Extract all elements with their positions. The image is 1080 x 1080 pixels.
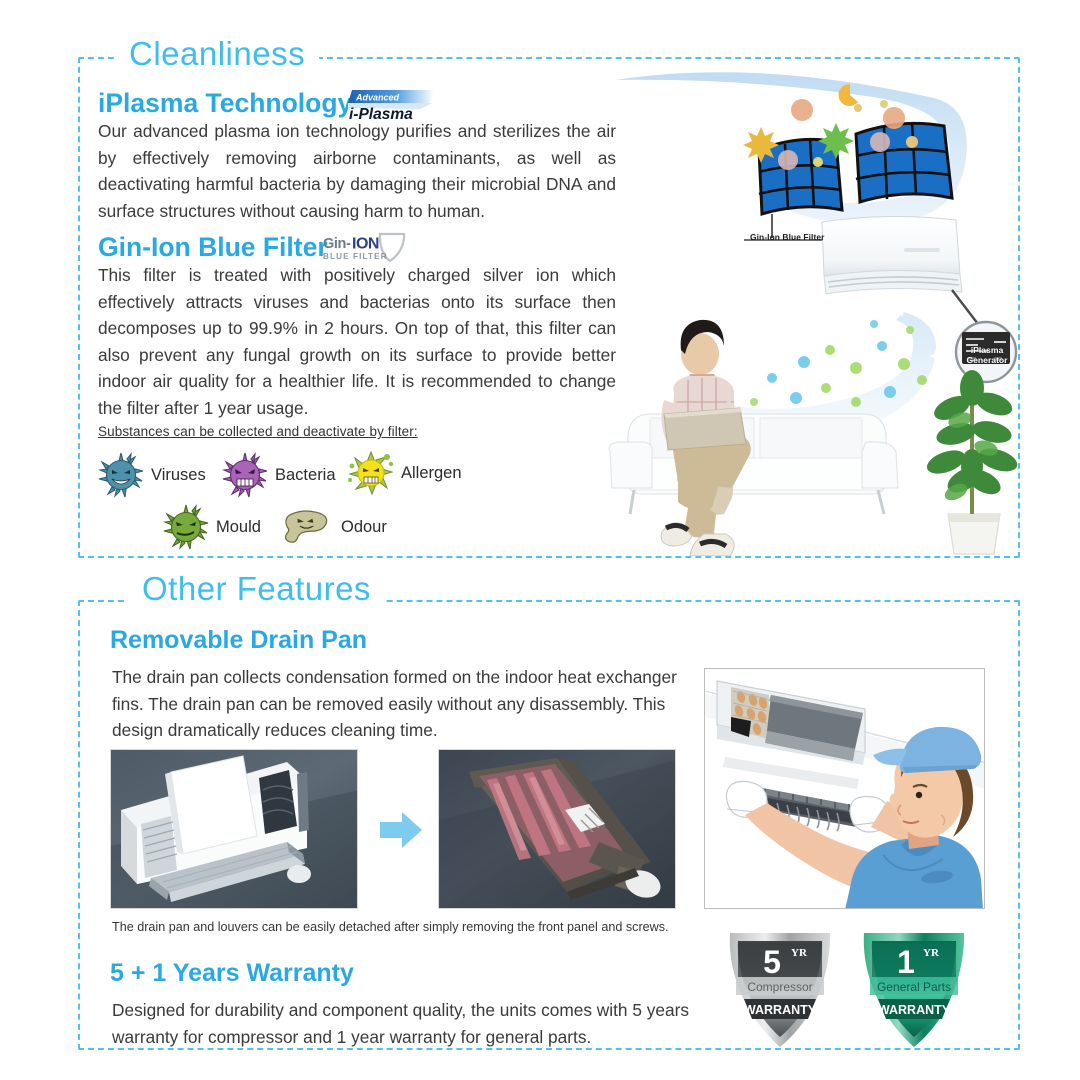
iplasma-technology-body: Our advanced plasma ion technology purif…: [98, 118, 616, 224]
substance-item-bacteria: Bacteria: [222, 452, 336, 498]
iplasma-logo-top-text: Advanced: [355, 93, 400, 103]
svg-text:Compressor: Compressor: [747, 980, 812, 994]
odour-blob-icon: [276, 506, 334, 548]
substances-label: Substances can be collected and deactiva…: [98, 424, 418, 439]
substance-label-allergen: Allergen: [401, 464, 462, 483]
warranty-badge-general-parts: 1 YR General Parts WARRANTY: [864, 933, 964, 1047]
warranty-body: Designed for durability and component qu…: [112, 997, 694, 1050]
substance-label-mould: Mould: [216, 518, 261, 537]
warranty-badges: 5 YR Compressor WARRANTY 1 YR General Pa…: [714, 925, 984, 1055]
svg-text:1: 1: [897, 944, 915, 980]
airflow-diagram: [604, 62, 1020, 556]
svg-text:YR: YR: [791, 947, 808, 959]
infographic-page: Cleanliness iPlasma Technology Advanced …: [0, 0, 1080, 1080]
filter-callout-label: Gin-Ion Blue Filter: [750, 232, 824, 242]
generator-label-line2: Generator: [956, 355, 1018, 365]
svg-text:ION: ION: [352, 236, 379, 253]
process-arrow-icon: [380, 810, 422, 850]
gin-ion-blue-filter-heading: Gin-Ion Blue Filter: [98, 234, 328, 261]
warranty-heading: 5 + 1 Years Warranty: [110, 961, 354, 986]
substance-label-odour: Odour: [341, 518, 387, 537]
substance-label-bacteria: Bacteria: [275, 466, 336, 485]
substance-item-odour: Odour: [276, 506, 387, 548]
iplasma-logo: Advanced i-Plasma: [346, 88, 438, 122]
substance-item-mould: Mould: [163, 504, 261, 550]
removable-drain-pan-body: The drain pan collects condensation form…: [112, 664, 692, 744]
cleanliness-illustration: Gin-Ion Blue Filter iPlasma Generator: [604, 62, 1020, 556]
cleanliness-section-title: Cleanliness: [115, 37, 319, 70]
bacteria-germ-icon: [222, 452, 268, 498]
svg-text:5: 5: [763, 944, 781, 980]
drain-pan-photo-before: [110, 749, 358, 909]
allergen-pollen-icon: [348, 450, 394, 496]
substance-item-viruses: Viruses: [98, 452, 206, 498]
svg-text:YR: YR: [923, 947, 940, 959]
substance-label-viruses: Viruses: [151, 466, 206, 485]
svg-text:WARRANTY: WARRANTY: [744, 1003, 817, 1017]
svg-text:General Parts: General Parts: [877, 980, 951, 994]
ginion-logo-sub-text: BLUE FILTER: [323, 252, 388, 261]
mould-germ-icon: [163, 504, 209, 550]
generator-callout-label: iPlasma Generator: [956, 345, 1018, 365]
warranty-badge-compressor: 5 YR Compressor WARRANTY: [730, 933, 830, 1047]
other-features-section-title: Other Features: [128, 572, 385, 605]
drain-pan-caption: The drain pan and louvers can be easily …: [112, 920, 669, 934]
iplasma-technology-heading: iPlasma Technology: [98, 90, 352, 117]
svg-text:WARRANTY: WARRANTY: [878, 1003, 951, 1017]
drain-pan-photo-after: [438, 749, 676, 909]
generator-label-line1: iPlasma: [956, 345, 1018, 355]
substance-item-allergen: Allergen: [348, 450, 462, 496]
ginion-logo: Gin- ION BLUE FILTER: [322, 232, 408, 264]
removable-drain-pan-heading: Removable Drain Pan: [110, 628, 367, 653]
gin-ion-blue-filter-body: This filter is treated with positively c…: [98, 262, 616, 421]
ginion-logo-main-text: Gin-: [323, 236, 351, 252]
virus-germ-icon: [98, 452, 144, 498]
technician-illustration: [704, 668, 985, 909]
